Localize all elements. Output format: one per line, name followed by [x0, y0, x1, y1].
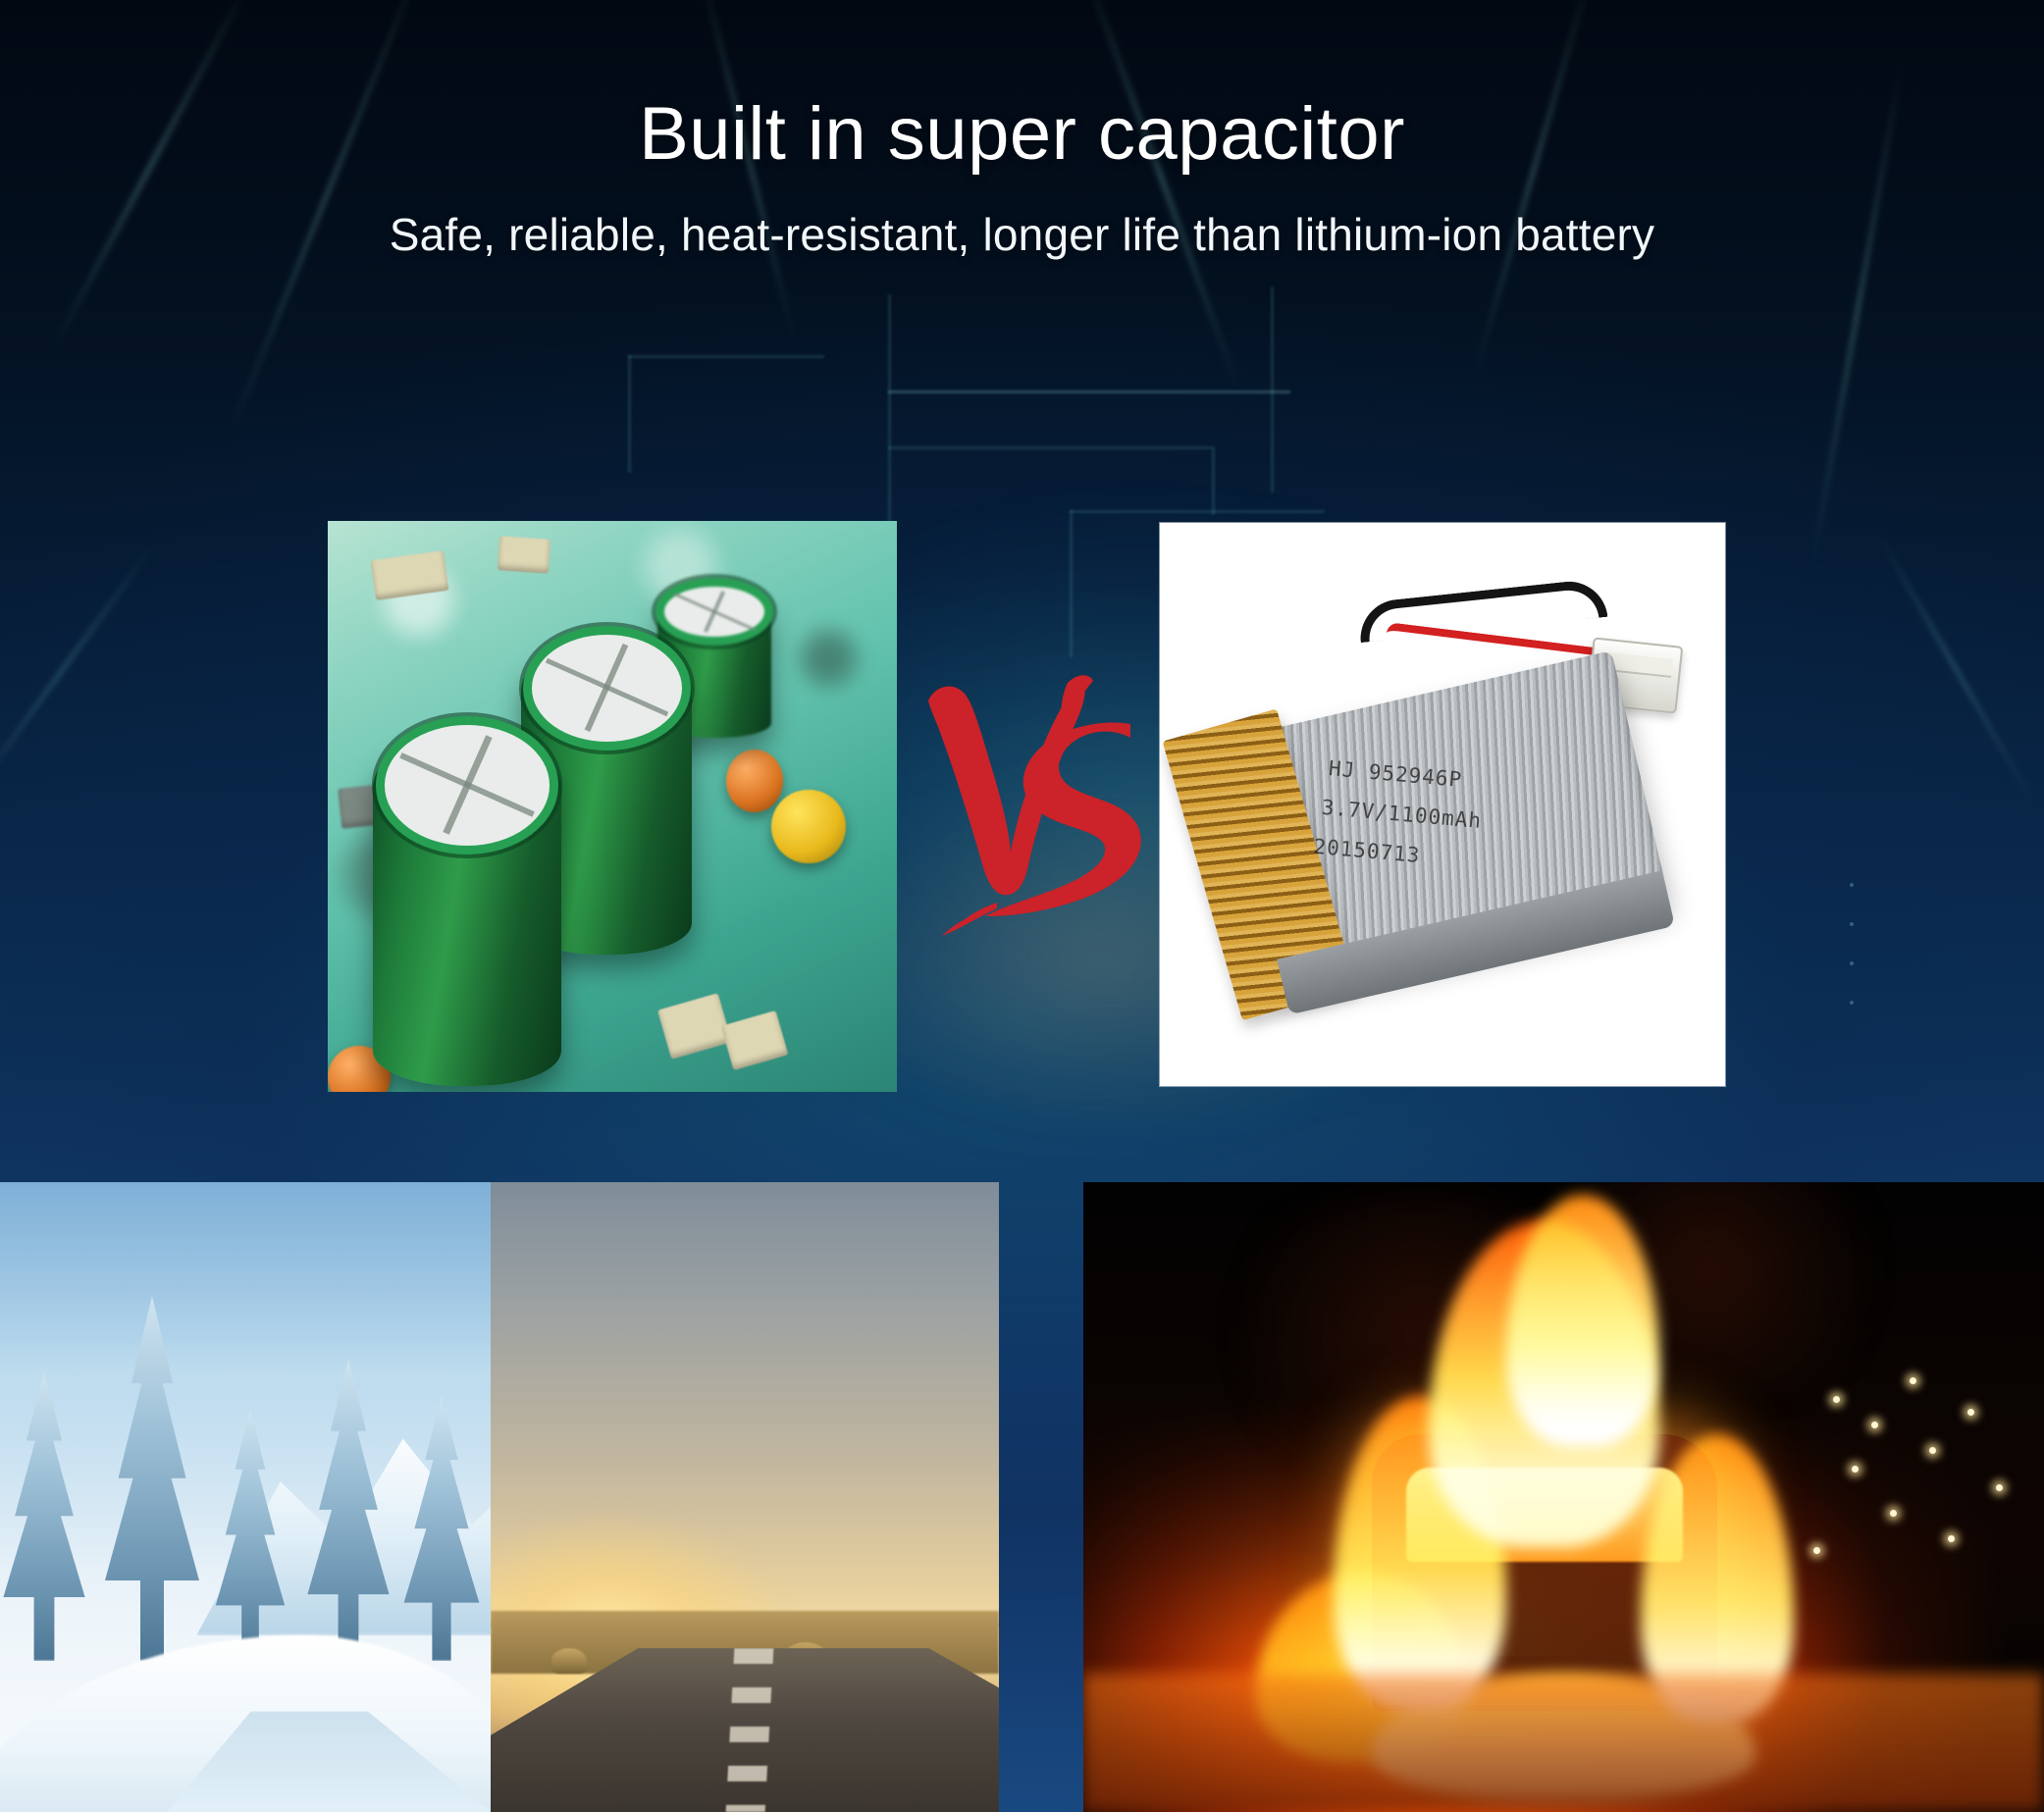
- city-light: [1967, 1409, 1974, 1416]
- city-light: [1871, 1422, 1878, 1428]
- capacitor-vent-top: [385, 725, 550, 846]
- city-light: [1910, 1377, 1916, 1384]
- header-block: Built in super capacitor Safe, reliable,…: [0, 94, 2044, 261]
- lithium-ion-battery-photo: HJ 952946P 3.7V/1100mAh 20150713: [1160, 523, 1725, 1086]
- capacitor-vent-top: [532, 635, 682, 742]
- capacitor-vent-top: [664, 587, 764, 637]
- city-light: [1948, 1535, 1955, 1542]
- battery-print-model: HJ 952946P: [1328, 756, 1582, 804]
- desert-scrub: [551, 1648, 587, 1674]
- electrolytic-capacitor: [373, 732, 560, 1086]
- page-subtitle: Safe, reliable, heat-resistant, longer l…: [0, 208, 2044, 261]
- smd-component: [498, 537, 550, 574]
- car-fire-scene: [1083, 1182, 2044, 1812]
- battery-cell-body: HJ 952946P 3.7V/1100mAh 20150713: [1227, 650, 1670, 992]
- road-reflection-glow: [1083, 1674, 2044, 1812]
- tantalum-capacitor: [726, 750, 783, 812]
- city-light: [1833, 1396, 1840, 1403]
- hot-desert-road-scene: [491, 1182, 999, 1812]
- super-capacitor-photo: [328, 521, 897, 1092]
- page-title: Built in super capacitor: [0, 94, 2044, 175]
- city-light: [1929, 1447, 1936, 1454]
- battery-print-date: 20150713: [1313, 834, 1567, 882]
- tantalum-capacitor: [771, 790, 845, 864]
- battery-print-rating: 3.7V/1100mAh: [1320, 795, 1574, 843]
- cold-weather-scene: [0, 1182, 491, 1812]
- vs-badge: [920, 673, 1156, 938]
